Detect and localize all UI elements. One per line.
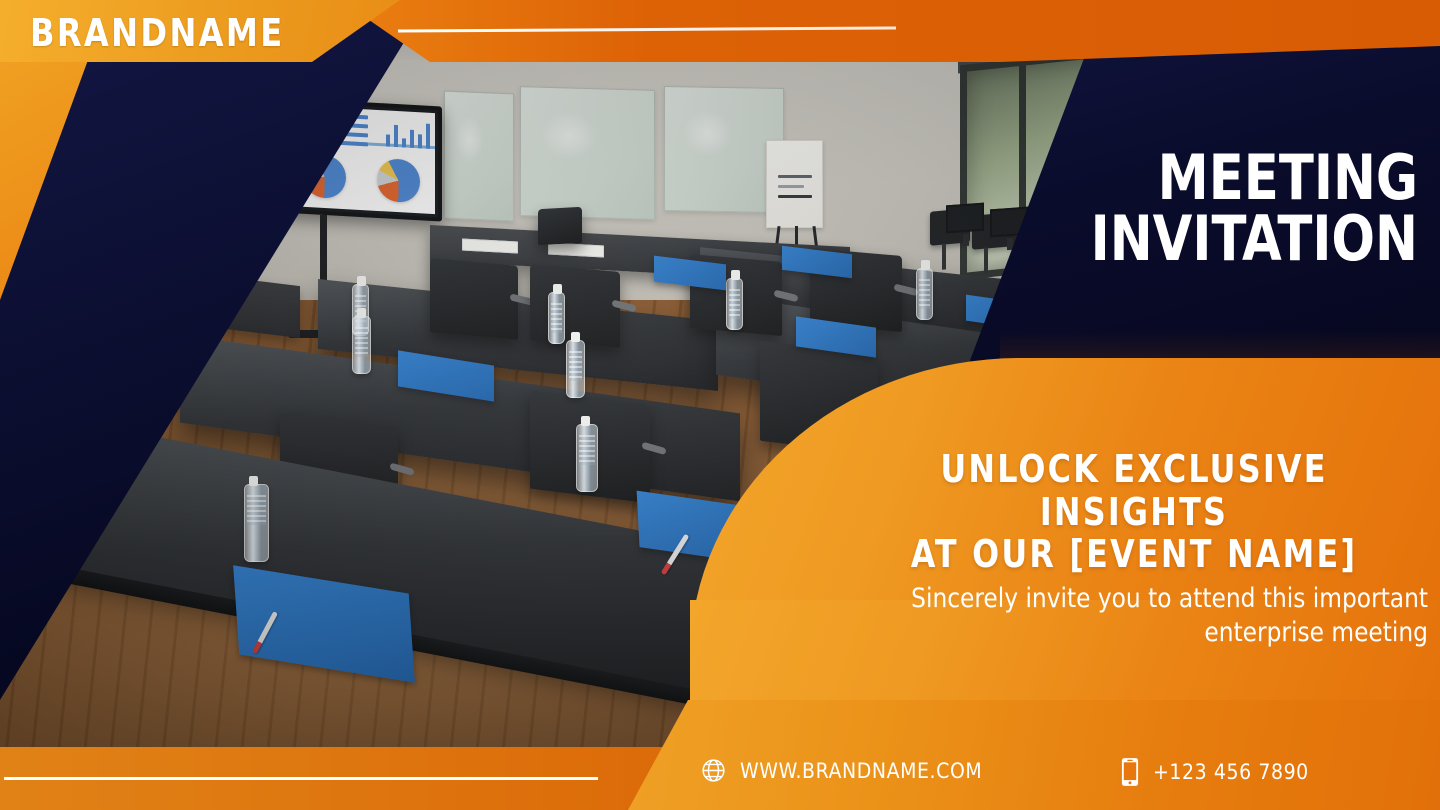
phone-contact[interactable]: +123 456 7890 bbox=[1120, 757, 1309, 787]
chair bbox=[538, 207, 582, 245]
body-line-2: enterprise meeting bbox=[1204, 617, 1428, 648]
headline-line-1: UNLOCK EXCLUSIVE INSIGHTS bbox=[940, 447, 1327, 534]
water-bottle bbox=[352, 316, 371, 374]
monitor bbox=[946, 203, 984, 234]
body-line-1: Sincerely invite you to attend this impo… bbox=[911, 583, 1428, 614]
whiteboard bbox=[520, 86, 655, 220]
invitation-body: Sincerely invite you to attend this impo… bbox=[825, 582, 1428, 650]
headline-line-2: AT OUR [EVENT NAME] bbox=[861, 533, 1408, 576]
chair bbox=[430, 258, 518, 340]
phone-text: +123 456 7890 bbox=[1153, 760, 1309, 784]
brand-logo-text: BRANDNAME bbox=[30, 11, 285, 55]
whiteboard bbox=[444, 91, 514, 222]
water-bottle bbox=[726, 278, 743, 330]
footer-divider-line bbox=[4, 777, 598, 780]
mobile-phone-icon bbox=[1120, 757, 1140, 787]
headline: UNLOCK EXCLUSIVE INSIGHTS AT OUR [EVENT … bbox=[861, 448, 1408, 576]
water-bottle bbox=[566, 340, 585, 398]
title-line-2: INVITATION bbox=[1032, 209, 1418, 270]
meeting-invitation-poster: MEETING INVITATION UNLOCK EXCLUSIVE INSI… bbox=[0, 0, 1440, 810]
globe-icon bbox=[700, 757, 727, 784]
flip-chart bbox=[766, 140, 823, 228]
website-contact[interactable]: WWW.BRANDNAME.COM bbox=[700, 757, 982, 784]
water-bottle bbox=[916, 268, 933, 320]
water-bottle bbox=[244, 484, 269, 562]
water-bottle bbox=[576, 424, 598, 492]
pie-chart bbox=[377, 158, 420, 203]
footer-contact-panel bbox=[580, 700, 1440, 810]
water-bottle bbox=[548, 292, 565, 344]
small-bar-chart bbox=[386, 116, 430, 148]
page-title: MEETING INVITATION bbox=[1032, 148, 1418, 270]
website-text: WWW.BRANDNAME.COM bbox=[740, 759, 982, 783]
